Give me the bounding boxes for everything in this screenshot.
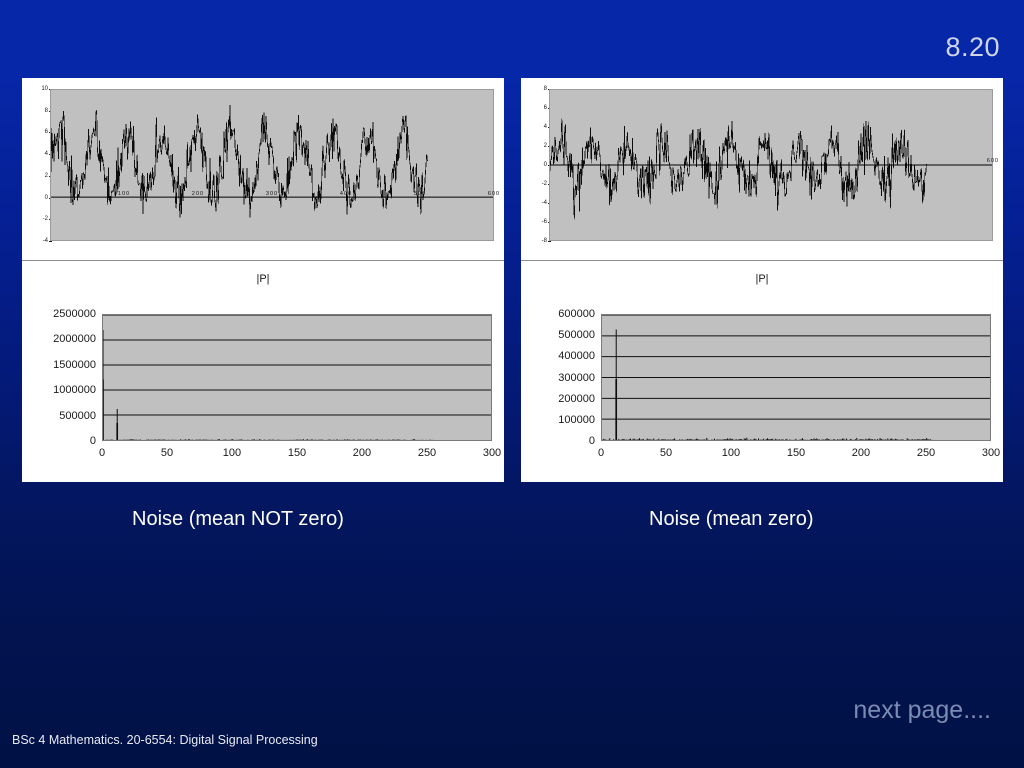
slide-canvas: 8.20 -4-20246810 100200300400500600 |P| … xyxy=(0,0,1024,768)
y-tick-label: 200000 xyxy=(558,393,595,405)
y-tick-label: 4 xyxy=(45,151,48,157)
y-tick-label: 2500000 xyxy=(53,308,96,320)
time-left-waveform xyxy=(51,90,493,240)
x-tick-label: 300 xyxy=(483,447,501,459)
y-tick-label: 500000 xyxy=(558,329,595,341)
spectrum-right-title: |P| xyxy=(521,273,1003,285)
time-left-plot-area xyxy=(50,89,494,241)
x-tick-label: 250 xyxy=(418,447,436,459)
time-right-plot-area xyxy=(549,89,993,241)
y-tick-label: -4 xyxy=(542,200,547,206)
y-tick-mark xyxy=(548,241,551,242)
spectrum-right-y-axis-labels: 0100000200000300000400000500000600000 xyxy=(527,314,595,441)
y-tick-label: 2000000 xyxy=(53,333,96,345)
y-tick-label: -6 xyxy=(542,219,547,225)
y-tick-label: 2 xyxy=(45,173,48,179)
y-tick-label: 300000 xyxy=(558,372,595,384)
x-tick-label: 300 xyxy=(982,447,1000,459)
spectrum-right-bars xyxy=(602,315,990,440)
spectrum-left-plot-area xyxy=(102,314,492,441)
x-tick-label: 0 xyxy=(598,447,604,459)
time-domain-chart-right: -8-6-4-202468 600 xyxy=(521,78,1003,261)
chart-panel-right: -8-6-4-202468 600 |P| 010000020000030000… xyxy=(521,78,1003,482)
footer-course-text: BSc 4 Mathematics. 20-6554: Digital Sign… xyxy=(12,733,318,747)
y-tick-label: -2 xyxy=(43,216,48,222)
x-tick-label: 0 xyxy=(99,447,105,459)
x-tick-label: 100 xyxy=(722,447,740,459)
y-tick-label: 600000 xyxy=(558,308,595,320)
y-tick-label: 4 xyxy=(544,124,547,130)
spectrum-chart-right: |P| 010000020000030000040000050000060000… xyxy=(521,261,1003,482)
slide-number: 8.20 xyxy=(945,32,1000,63)
y-tick-label: 8 xyxy=(45,108,48,114)
chart-panel-left: -4-20246810 100200300400500600 |P| 05000… xyxy=(22,78,504,482)
y-tick-label: 0 xyxy=(544,162,547,168)
y-tick-label: 8 xyxy=(544,86,547,92)
spectrum-right-plot-area xyxy=(601,314,991,441)
x-tick-label: 100 xyxy=(223,447,241,459)
spectrum-left-bars xyxy=(103,315,491,440)
y-tick-label: -4 xyxy=(43,238,48,244)
x-tick-label: 50 xyxy=(660,447,672,459)
time-right-y-axis-labels: -8-6-4-202468 xyxy=(525,89,547,241)
spectrum-right-x-axis-labels: 050100150200250300 xyxy=(601,447,991,463)
x-tick-label: 150 xyxy=(288,447,306,459)
y-tick-label: 1500000 xyxy=(53,359,96,371)
spectrum-left-y-axis-labels: 05000001000000150000020000002500000 xyxy=(28,314,96,441)
spectrum-chart-left: |P| 05000001000000150000020000002500000 … xyxy=(22,261,504,482)
y-tick-label: 2 xyxy=(544,143,547,149)
x-tick-label: 200 xyxy=(353,447,371,459)
y-tick-label: 1000000 xyxy=(53,384,96,396)
y-tick-label: 0 xyxy=(90,435,96,447)
y-tick-label: 100000 xyxy=(558,414,595,426)
time-domain-chart-left: -4-20246810 100200300400500600 xyxy=(22,78,504,261)
x-tick-label: 200 xyxy=(852,447,870,459)
y-tick-label: 6 xyxy=(544,105,547,111)
y-tick-label: 0 xyxy=(589,435,595,447)
y-tick-label: 500000 xyxy=(59,410,96,422)
time-left-y-axis-labels: -4-20246810 xyxy=(26,89,48,241)
y-tick-label: -8 xyxy=(542,238,547,244)
y-tick-label: 6 xyxy=(45,129,48,135)
y-tick-label: -2 xyxy=(542,181,547,187)
caption-left: Noise (mean NOT zero) xyxy=(132,508,344,531)
y-tick-label: 400000 xyxy=(558,350,595,362)
x-tick-label: 50 xyxy=(161,447,173,459)
spectrum-left-title: |P| xyxy=(22,273,504,285)
caption-right: Noise (mean zero) xyxy=(649,508,814,531)
time-right-waveform xyxy=(550,90,992,240)
x-tick-label: 250 xyxy=(917,447,935,459)
x-tick-label: 150 xyxy=(787,447,805,459)
next-page-label: next page.... xyxy=(853,696,991,725)
y-tick-mark xyxy=(49,241,52,242)
y-tick-label: 10 xyxy=(41,86,48,92)
spectrum-left-x-axis-labels: 050100150200250300 xyxy=(102,447,492,463)
y-tick-label: 0 xyxy=(45,195,48,201)
